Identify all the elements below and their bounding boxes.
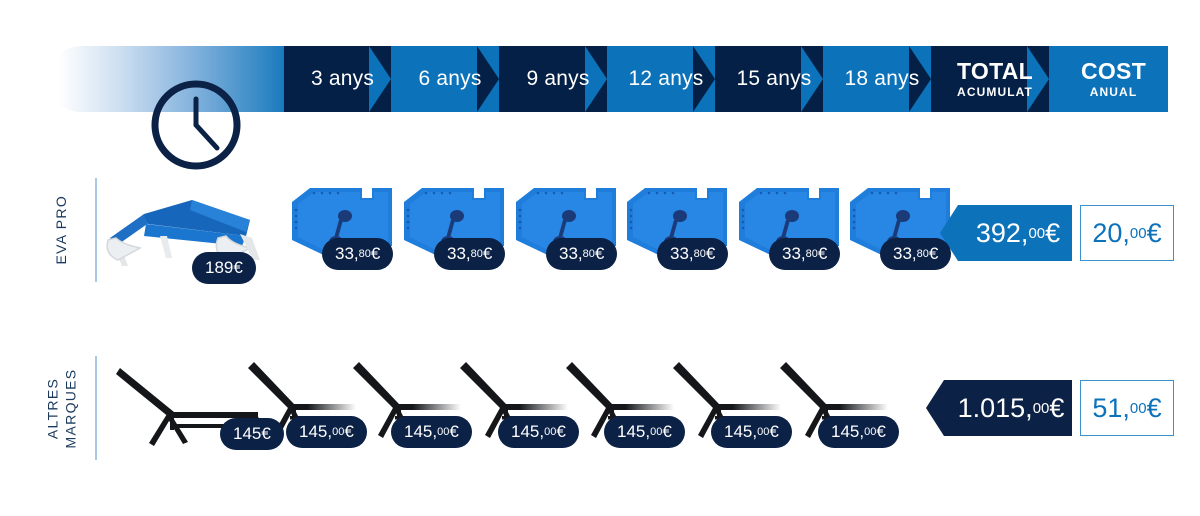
price-currency: € (662, 422, 671, 442)
product-other-part-3: 145,00€ (452, 354, 572, 455)
timeline-segment-label: 18 anys (835, 67, 920, 91)
price-int: 33 (335, 244, 354, 264)
price-cents: 00 (864, 426, 876, 438)
price-pill-initial: 189€ (192, 252, 256, 284)
price-cents: 00 (332, 426, 344, 438)
price-cents: 80 (694, 248, 706, 260)
price-cents: 00 (650, 426, 662, 438)
total-acumulat-title: TOTAL (957, 60, 1033, 83)
timeline-segment-label: 15 anys (727, 67, 812, 91)
annual-cents: 00 (1130, 400, 1147, 417)
product-eva-pro-part-4: 33,80€ (623, 182, 741, 279)
cost-anual-title: COST (1081, 60, 1146, 83)
price-pill-part: 33,80€ (546, 238, 617, 270)
row-label-text: EVA PRO (53, 195, 71, 265)
annual-cents: 00 (1130, 225, 1147, 242)
price-int: 33 (447, 244, 466, 264)
price-int: 33 (670, 244, 689, 264)
price-int: 145 (724, 422, 752, 442)
annual-currency: € (1147, 218, 1162, 249)
timeline-segment-label: 12 anys (619, 67, 704, 91)
row-altres-marques: ALTRESMARQUES 145€ (0, 348, 1200, 478)
row-divider (95, 178, 97, 282)
timeline-segment-label: 6 anys (408, 67, 481, 91)
price-pill-part: 33,80€ (322, 238, 393, 270)
cost-anual-stack: COST ANUAL (1071, 60, 1146, 98)
row-label-line2: MARQUES (62, 368, 78, 448)
row-label-altres-marques: ALTRESMARQUES (42, 348, 82, 468)
row-label-eva-pro: EVA PRO (42, 170, 82, 290)
timeline-bar: 3 anys 6 anys 9 anys 12 anys 15 anys 18 … (48, 46, 1168, 112)
row-label-text: ALTRESMARQUES (45, 368, 80, 448)
price-currency: € (818, 244, 827, 264)
price-int: 145 (511, 422, 539, 442)
row-label-line1: ALTRES (45, 377, 61, 438)
total-cents: 00 (1028, 225, 1045, 242)
total-int: 392 (976, 218, 1021, 249)
price-currency: € (929, 244, 938, 264)
price-pill-part: 145,00€ (711, 416, 792, 448)
price-int: 145 (299, 422, 327, 442)
price-int: 145 (404, 422, 432, 442)
product-other-part-6: 145,00€ (772, 354, 892, 455)
price-currency: € (876, 422, 885, 442)
timeline-segments: 3 anys 6 anys 9 anys 12 anys 15 anys 18 … (284, 46, 1168, 112)
price-pill-value: 189€ (205, 258, 243, 278)
price-int: 33 (559, 244, 578, 264)
price-cents: 80 (917, 248, 929, 260)
annual-int: 51 (1092, 393, 1122, 424)
price-pill-part: 145,00€ (286, 416, 367, 448)
total-acumulat-subtitle: ACUMULAT (957, 86, 1033, 98)
product-eva-pro-part-3: 33,80€ (512, 182, 630, 279)
timeline-segment-label: 9 anys (516, 67, 589, 91)
price-pill-part: 33,80€ (769, 238, 840, 270)
price-cents: 80 (583, 248, 595, 260)
timeline-segment-cost-anual[interactable]: COST ANUAL (1049, 46, 1168, 112)
price-pill-part: 145,00€ (818, 416, 899, 448)
price-currency: € (344, 422, 353, 442)
price-cents: 00 (437, 426, 449, 438)
cost-anual-subtitle: ANUAL (1090, 86, 1138, 98)
product-eva-pro-part-1: 33,80€ (288, 182, 406, 279)
price-cents: 00 (757, 426, 769, 438)
clock-icon (148, 77, 244, 173)
product-other-part-5: 145,00€ (665, 354, 785, 455)
annual-comma: , (1122, 393, 1130, 424)
annual-cost-eva-pro: 20,00€ (1080, 205, 1174, 261)
total-accumulated-eva-pro: 392,00€ (958, 205, 1072, 261)
total-accumulated-altres-marques: 1.015,00€ (944, 380, 1072, 436)
annual-cost-altres-marques: 51,00€ (1080, 380, 1174, 436)
price-pill-part: 33,80€ (880, 238, 951, 270)
price-cents: 80 (359, 248, 371, 260)
price-pill-part: 145,00€ (604, 416, 685, 448)
price-currency: € (706, 244, 715, 264)
product-eva-pro-part-5: 33,80€ (735, 182, 853, 279)
price-currency: € (371, 244, 380, 264)
total-comma: , (1021, 218, 1029, 249)
total-int: 1.015 (958, 393, 1026, 424)
product-eva-pro-lounger: 189€ (100, 180, 280, 290)
total-currency: € (1049, 393, 1064, 424)
price-cents: 00 (544, 426, 556, 438)
row-eva-pro: EVA PRO 189€ (0, 170, 1200, 300)
price-pill-part: 145,00€ (498, 416, 579, 448)
price-pill-part: 33,80€ (434, 238, 505, 270)
annual-currency: € (1147, 393, 1162, 424)
price-currency: € (769, 422, 778, 442)
annual-int: 20 (1092, 218, 1122, 249)
price-currency: € (556, 422, 565, 442)
price-cents: 80 (471, 248, 483, 260)
total-acumulat-stack: TOTAL ACUMULAT (947, 60, 1033, 98)
total-cents: 00 (1033, 400, 1050, 417)
price-int: 33 (782, 244, 801, 264)
annual-comma: , (1122, 218, 1130, 249)
price-pill-part: 33,80€ (657, 238, 728, 270)
price-currency: € (449, 422, 458, 442)
price-pill-value: 145€ (233, 424, 271, 444)
total-comma: , (1025, 393, 1033, 424)
price-int: 145 (617, 422, 645, 442)
row-divider (95, 356, 97, 460)
product-eva-pro-part-2: 33,80€ (400, 182, 518, 279)
price-currency: € (483, 244, 492, 264)
price-int: 33 (893, 244, 912, 264)
price-currency: € (595, 244, 604, 264)
price-pill-initial: 145€ (220, 418, 284, 450)
timeline-segment-label: 3 anys (301, 67, 374, 91)
price-cents: 80 (806, 248, 818, 260)
price-pill-part: 145,00€ (391, 416, 472, 448)
total-currency: € (1045, 218, 1060, 249)
price-int: 145 (831, 422, 859, 442)
